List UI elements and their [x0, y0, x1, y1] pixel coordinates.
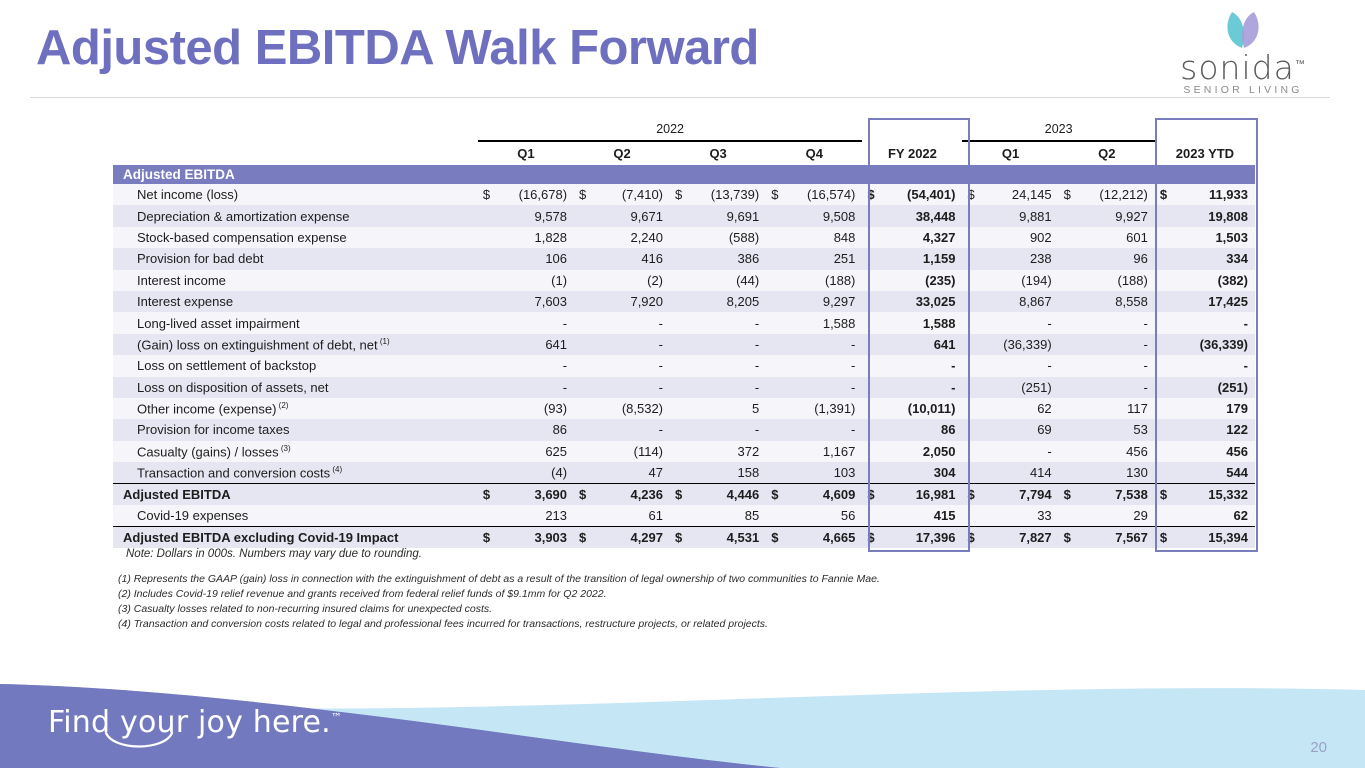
table-cell: 7,567 — [1077, 526, 1154, 547]
currency-symbol — [1155, 355, 1174, 376]
table-cell: 4,531 — [689, 526, 766, 547]
currency-symbol: $ — [1155, 184, 1174, 205]
currency-symbol — [1155, 227, 1174, 248]
column-header-q2: Q2 — [1059, 141, 1155, 165]
currency-symbol — [478, 248, 497, 269]
currency-symbol — [862, 419, 881, 440]
table-cell: (588) — [689, 227, 766, 248]
table-cell: 61 — [593, 505, 670, 526]
row-label: Covid-19 expenses — [113, 505, 478, 526]
table-cell: 47 — [593, 462, 670, 483]
table-cell: 372 — [689, 441, 766, 462]
currency-symbol: $ — [574, 526, 593, 547]
currency-symbol — [1155, 419, 1174, 440]
table-cell: - — [593, 334, 670, 355]
table-cell: 17,425 — [1174, 291, 1255, 312]
row-label: Interest expense — [113, 291, 478, 312]
column-header-q1: Q1 — [962, 141, 1058, 165]
currency-symbol — [670, 334, 689, 355]
table-cell: 601 — [1077, 227, 1154, 248]
currency-symbol — [574, 505, 593, 526]
title-divider — [30, 97, 1330, 98]
currency-symbol — [670, 312, 689, 333]
currency-symbol — [962, 227, 981, 248]
table-cell: (4) — [497, 462, 574, 483]
currency-symbol: $ — [478, 184, 497, 205]
table-cell: 456 — [1077, 441, 1154, 462]
currency-symbol — [670, 205, 689, 226]
table-cell: - — [593, 419, 670, 440]
table-cell: 456 — [1174, 441, 1255, 462]
row-label: Adjusted EBITDA — [113, 483, 478, 504]
currency-symbol — [862, 312, 881, 333]
table-cell: 4,297 — [593, 526, 670, 547]
currency-symbol — [1059, 462, 1078, 483]
currency-symbol — [1059, 398, 1078, 419]
row-label: (Gain) loss on extinguishment of debt, n… — [113, 334, 478, 355]
table-cell: 103 — [785, 462, 862, 483]
column-header-q4: Q4 — [766, 141, 862, 165]
table-cell: 4,609 — [785, 483, 862, 504]
currency-symbol — [478, 355, 497, 376]
table-cell: - — [1077, 377, 1154, 398]
currency-symbol — [862, 205, 881, 226]
currency-symbol — [1059, 248, 1078, 269]
currency-symbol — [962, 355, 981, 376]
table-cell: - — [689, 312, 766, 333]
table-cell: - — [497, 355, 574, 376]
table-cell: 1,503 — [1174, 227, 1255, 248]
currency-symbol — [862, 227, 881, 248]
currency-symbol — [1155, 462, 1174, 483]
column-header-2023-ytd: 2023 YTD — [1155, 141, 1255, 165]
footer-wave-graphic — [0, 638, 1365, 768]
spacer-cell — [862, 118, 962, 141]
table-body: 20222023Q1Q2Q3Q4FY 2022Q1Q22023 YTDAdjus… — [113, 118, 1255, 548]
footnote-item: (1) Represents the GAAP (gain) loss in c… — [118, 572, 880, 587]
currency-symbol — [1059, 441, 1078, 462]
table-cell: 24,145 — [981, 184, 1058, 205]
table-row: Provision for bad debt1064163862511,1592… — [113, 248, 1255, 269]
table-cell: (382) — [1174, 270, 1255, 291]
table-cell: - — [785, 334, 862, 355]
currency-symbol — [574, 441, 593, 462]
currency-symbol: $ — [670, 483, 689, 504]
currency-symbol: $ — [962, 184, 981, 205]
table-row: Casualty (gains) / losses (3)625(114)372… — [113, 441, 1255, 462]
currency-symbol — [962, 205, 981, 226]
currency-symbol: $ — [862, 483, 881, 504]
currency-symbol: $ — [766, 483, 785, 504]
row-label: Loss on settlement of backstop — [113, 355, 478, 376]
currency-symbol — [478, 462, 497, 483]
table-cell: 9,297 — [785, 291, 862, 312]
table-cell: (10,011) — [881, 398, 962, 419]
table-cell: 38,448 — [881, 205, 962, 226]
table-cell: (16,678) — [497, 184, 574, 205]
table-cell: (13,739) — [689, 184, 766, 205]
table-cell: - — [689, 419, 766, 440]
currency-symbol — [1059, 419, 1078, 440]
table-cell: 415 — [881, 505, 962, 526]
spacer-cell — [113, 141, 478, 165]
table-cell: 386 — [689, 248, 766, 269]
table-row: Net income (loss)$(16,678)$(7,410)$(13,7… — [113, 184, 1255, 205]
row-label: Transaction and conversion costs (4) — [113, 462, 478, 483]
currency-symbol — [670, 441, 689, 462]
currency-symbol — [766, 355, 785, 376]
currency-symbol: $ — [962, 483, 981, 504]
table-cell: 9,927 — [1077, 205, 1154, 226]
table-row: Long-lived asset impairment---1,5881,588… — [113, 312, 1255, 333]
spacer-cell — [113, 118, 478, 141]
table-cell: - — [689, 334, 766, 355]
table-cell: (7,410) — [593, 184, 670, 205]
table-cell: 1,159 — [881, 248, 962, 269]
table-cell: - — [881, 377, 962, 398]
currency-symbol — [574, 227, 593, 248]
table-cell: - — [1174, 355, 1255, 376]
currency-symbol — [670, 291, 689, 312]
tagline-trademark: ™ — [331, 711, 342, 724]
currency-symbol — [962, 334, 981, 355]
currency-symbol — [1059, 312, 1078, 333]
sonida-petal-icon — [1216, 8, 1270, 50]
currency-symbol — [478, 227, 497, 248]
covid-expenses-row: Covid-19 expenses213618556415332962 — [113, 505, 1255, 526]
rounding-note: Note: Dollars in 000s. Numbers may vary … — [126, 548, 422, 560]
table-cell: - — [593, 377, 670, 398]
currency-symbol — [766, 505, 785, 526]
currency-symbol: $ — [962, 526, 981, 547]
table-cell: 15,332 — [1174, 483, 1255, 504]
year-header-row: 20222023 — [113, 118, 1255, 141]
table-row: Stock-based compensation expense1,8282,2… — [113, 227, 1255, 248]
currency-symbol: $ — [862, 526, 881, 547]
currency-symbol — [670, 227, 689, 248]
table-cell: 4,665 — [785, 526, 862, 547]
table-cell: 334 — [1174, 248, 1255, 269]
currency-symbol — [1155, 248, 1174, 269]
table-row: Loss on settlement of backstop-------- — [113, 355, 1255, 376]
table-cell: (251) — [981, 377, 1058, 398]
table-cell: (2) — [593, 270, 670, 291]
table-cell: 238 — [981, 248, 1058, 269]
currency-symbol — [574, 398, 593, 419]
spacer-cell — [1155, 118, 1255, 141]
table-cell: 4,327 — [881, 227, 962, 248]
currency-symbol — [766, 312, 785, 333]
table-cell: 86 — [881, 419, 962, 440]
currency-symbol — [862, 355, 881, 376]
currency-symbol — [862, 334, 881, 355]
currency-symbol — [766, 462, 785, 483]
currency-symbol — [862, 377, 881, 398]
currency-symbol — [962, 441, 981, 462]
currency-symbol — [670, 270, 689, 291]
currency-symbol — [962, 270, 981, 291]
table-cell: 117 — [1077, 398, 1154, 419]
table-cell: - — [1077, 355, 1154, 376]
table-cell: 1,588 — [785, 312, 862, 333]
table-cell: (1) — [497, 270, 574, 291]
row-label: Adjusted EBITDA excluding Covid-19 Impac… — [113, 526, 478, 547]
table-cell: - — [785, 355, 862, 376]
table-cell: - — [785, 377, 862, 398]
currency-symbol — [766, 441, 785, 462]
currency-symbol — [1155, 377, 1174, 398]
row-label: Long-lived asset impairment — [113, 312, 478, 333]
currency-symbol — [478, 505, 497, 526]
table-cell: - — [1174, 312, 1255, 333]
currency-symbol: $ — [766, 526, 785, 547]
currency-symbol — [962, 398, 981, 419]
column-header-fy-2022: FY 2022 — [862, 141, 962, 165]
table-cell: 3,690 — [497, 483, 574, 504]
table-cell: 62 — [1174, 505, 1255, 526]
currency-symbol — [1155, 505, 1174, 526]
table-row: (Gain) loss on extinguishment of debt, n… — [113, 334, 1255, 355]
page-title: Adjusted EBITDA Walk Forward — [36, 22, 759, 76]
currency-symbol — [1155, 205, 1174, 226]
currency-symbol — [962, 248, 981, 269]
currency-symbol — [670, 377, 689, 398]
currency-symbol: $ — [478, 526, 497, 547]
row-label: Other income (expense) (2) — [113, 398, 478, 419]
table-cell: 251 — [785, 248, 862, 269]
table-row: Provision for income taxes86---866953122 — [113, 419, 1255, 440]
currency-symbol — [1059, 334, 1078, 355]
currency-symbol — [574, 334, 593, 355]
total-row-adjusted-ebitda: Adjusted EBITDA$3,690$4,236$4,446$4,609$… — [113, 483, 1255, 504]
table-cell: - — [593, 355, 670, 376]
table-cell: 7,603 — [497, 291, 574, 312]
table-cell: 5 — [689, 398, 766, 419]
currency-symbol — [862, 270, 881, 291]
smile-swoosh-icon — [102, 731, 194, 753]
footnote-item: (3) Casualty losses related to non-recur… — [118, 602, 880, 617]
table-cell: (16,574) — [785, 184, 862, 205]
table-cell: (194) — [981, 270, 1058, 291]
table-cell: 29 — [1077, 505, 1154, 526]
currency-symbol — [574, 291, 593, 312]
currency-symbol — [478, 270, 497, 291]
trademark-symbol: ™ — [1295, 59, 1306, 70]
table-cell: 7,920 — [593, 291, 670, 312]
column-header-q2: Q2 — [574, 141, 670, 165]
table-cell: (251) — [1174, 377, 1255, 398]
column-header-row: Q1Q2Q3Q4FY 2022Q1Q22023 YTD — [113, 141, 1255, 165]
column-header-q1: Q1 — [478, 141, 574, 165]
year-label-2023: 2023 — [962, 118, 1154, 141]
currency-symbol — [1155, 398, 1174, 419]
table-cell: (114) — [593, 441, 670, 462]
footer-tagline: Find your joy here.™ — [48, 705, 342, 740]
table-cell: 213 — [497, 505, 574, 526]
table-cell: 106 — [497, 248, 574, 269]
currency-symbol — [670, 505, 689, 526]
currency-symbol — [1059, 291, 1078, 312]
table-row: Interest income(1)(2)(44)(188)(235)(194)… — [113, 270, 1255, 291]
grand-total-row: Adjusted EBITDA excluding Covid-19 Impac… — [113, 526, 1255, 547]
currency-symbol: $ — [862, 184, 881, 205]
currency-symbol: $ — [478, 483, 497, 504]
sonida-wordmark: sonida™ — [1163, 48, 1323, 87]
table-cell: (12,212) — [1077, 184, 1154, 205]
table-cell: 1,828 — [497, 227, 574, 248]
table-cell: 130 — [1077, 462, 1154, 483]
table-cell: 56 — [785, 505, 862, 526]
currency-symbol — [478, 205, 497, 226]
table-cell: - — [1077, 312, 1154, 333]
currency-symbol — [478, 312, 497, 333]
currency-symbol — [478, 291, 497, 312]
currency-symbol — [574, 355, 593, 376]
currency-symbol — [862, 441, 881, 462]
currency-symbol — [574, 248, 593, 269]
table-cell: (36,339) — [1174, 334, 1255, 355]
table-cell: 9,691 — [689, 205, 766, 226]
row-label: Provision for bad debt — [113, 248, 478, 269]
currency-symbol — [962, 505, 981, 526]
table-cell: 304 — [881, 462, 962, 483]
table-cell: (235) — [881, 270, 962, 291]
table-cell: (93) — [497, 398, 574, 419]
currency-symbol — [862, 398, 881, 419]
section-header-row: Adjusted EBITDA — [113, 165, 1255, 184]
currency-symbol — [766, 398, 785, 419]
table-cell: 33 — [981, 505, 1058, 526]
year-label-2022: 2022 — [478, 118, 863, 141]
table-cell: 7,538 — [1077, 483, 1154, 504]
row-label: Loss on disposition of assets, net — [113, 377, 478, 398]
currency-symbol — [962, 419, 981, 440]
slide-footer: Find your joy here.™ 20 — [0, 638, 1365, 768]
table-cell: - — [689, 355, 766, 376]
currency-symbol — [862, 291, 881, 312]
currency-symbol — [766, 291, 785, 312]
table-cell: (54,401) — [881, 184, 962, 205]
currency-symbol — [670, 355, 689, 376]
table-cell: 8,205 — [689, 291, 766, 312]
table-cell: 16,981 — [881, 483, 962, 504]
currency-symbol: $ — [1059, 526, 1078, 547]
currency-symbol — [670, 462, 689, 483]
currency-symbol — [478, 419, 497, 440]
table-cell: 179 — [1174, 398, 1255, 419]
ebitda-table-wrapper: 20222023Q1Q2Q3Q4FY 2022Q1Q22023 YTDAdjus… — [113, 118, 1255, 548]
currency-symbol — [766, 205, 785, 226]
table-cell: 7,794 — [981, 483, 1058, 504]
row-label: Stock-based compensation expense — [113, 227, 478, 248]
table-cell: 641 — [497, 334, 574, 355]
footnote-item: (2) Includes Covid-19 relief revenue and… — [118, 587, 880, 602]
table-cell: 9,671 — [593, 205, 670, 226]
table-cell: - — [593, 312, 670, 333]
table-cell: 7,827 — [981, 526, 1058, 547]
currency-symbol — [862, 505, 881, 526]
ebitda-table: 20222023Q1Q2Q3Q4FY 2022Q1Q22023 YTDAdjus… — [113, 118, 1255, 548]
table-row: Depreciation & amortization expense9,578… — [113, 205, 1255, 226]
table-row: Other income (expense) (2)(93)(8,532)5(1… — [113, 398, 1255, 419]
table-cell: 86 — [497, 419, 574, 440]
table-cell: - — [981, 355, 1058, 376]
currency-symbol — [478, 334, 497, 355]
currency-symbol — [1155, 312, 1174, 333]
currency-symbol — [962, 312, 981, 333]
table-cell: 9,508 — [785, 205, 862, 226]
table-cell: - — [689, 377, 766, 398]
table-cell: 848 — [785, 227, 862, 248]
currency-symbol: $ — [670, 526, 689, 547]
table-cell: (188) — [1077, 270, 1154, 291]
column-header-q3: Q3 — [670, 141, 766, 165]
currency-symbol: $ — [1155, 526, 1174, 547]
currency-symbol — [1059, 270, 1078, 291]
table-cell: 11,933 — [1174, 184, 1255, 205]
currency-symbol — [962, 377, 981, 398]
currency-symbol — [670, 419, 689, 440]
currency-symbol — [670, 398, 689, 419]
currency-symbol — [574, 312, 593, 333]
table-cell: 4,446 — [689, 483, 766, 504]
footnote-item: (4) Transaction and conversion costs rel… — [118, 617, 880, 632]
sonida-logo: sonida™ SENIOR LIVING — [1163, 8, 1323, 96]
row-label: Casualty (gains) / losses (3) — [113, 441, 478, 462]
table-cell: 122 — [1174, 419, 1255, 440]
page-number: 20 — [1310, 739, 1327, 756]
table-cell: - — [881, 355, 962, 376]
currency-symbol — [962, 291, 981, 312]
currency-symbol — [1059, 205, 1078, 226]
table-cell: 1,167 — [785, 441, 862, 462]
currency-symbol — [478, 377, 497, 398]
currency-symbol — [478, 441, 497, 462]
table-cell: 414 — [981, 462, 1058, 483]
currency-symbol — [862, 248, 881, 269]
currency-symbol — [766, 227, 785, 248]
table-cell: 2,050 — [881, 441, 962, 462]
table-cell: 69 — [981, 419, 1058, 440]
table-cell: (8,532) — [593, 398, 670, 419]
currency-symbol: $ — [670, 184, 689, 205]
table-cell: - — [1077, 334, 1154, 355]
table-cell: (1,391) — [785, 398, 862, 419]
table-cell: (44) — [689, 270, 766, 291]
table-cell: 15,394 — [1174, 526, 1255, 547]
footnote-list: (1) Represents the GAAP (gain) loss in c… — [118, 572, 880, 632]
table-cell: 625 — [497, 441, 574, 462]
table-cell: 19,808 — [1174, 205, 1255, 226]
currency-symbol — [574, 377, 593, 398]
table-row: Transaction and conversion costs (4)(4)4… — [113, 462, 1255, 483]
table-cell: 9,578 — [497, 205, 574, 226]
table-cell: 62 — [981, 398, 1058, 419]
currency-symbol — [574, 205, 593, 226]
currency-symbol — [1059, 355, 1078, 376]
table-cell: 3,903 — [497, 526, 574, 547]
table-cell: 33,025 — [881, 291, 962, 312]
table-cell: 544 — [1174, 462, 1255, 483]
table-cell: 2,240 — [593, 227, 670, 248]
currency-symbol — [1155, 441, 1174, 462]
table-cell: - — [981, 312, 1058, 333]
currency-symbol — [962, 462, 981, 483]
table-cell: 53 — [1077, 419, 1154, 440]
table-cell: - — [981, 441, 1058, 462]
currency-symbol: $ — [1059, 184, 1078, 205]
currency-symbol: $ — [1059, 483, 1078, 504]
